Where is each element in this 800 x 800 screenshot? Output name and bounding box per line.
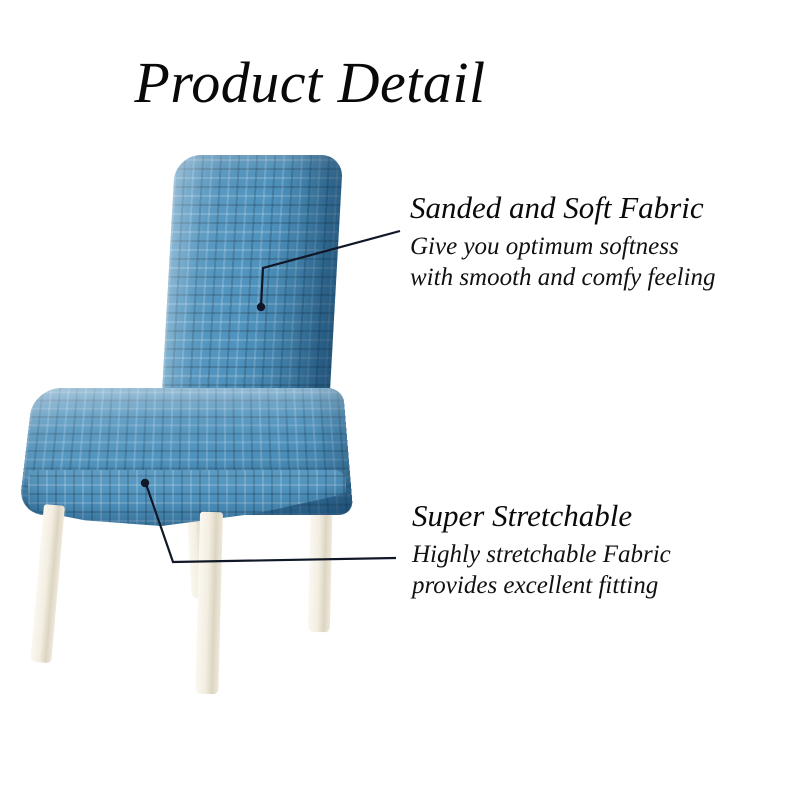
annotation-body-super-stretchable: Highly stretchable Fabric provides excel… xyxy=(412,539,671,601)
product-detail-image: Product Detail Sanded and Soft Fabric xyxy=(0,0,800,800)
annotation-heading-super-stretchable: Super Stretchable xyxy=(412,498,671,534)
annotation-super-stretchable: Super Stretchable Highly stretchable Fab… xyxy=(412,498,671,601)
annotation-heading-sanded-soft-fabric: Sanded and Soft Fabric xyxy=(410,190,716,226)
annotation-body-line: provides excellent fitting xyxy=(412,570,671,601)
chair-leg-front-left xyxy=(30,504,65,663)
annotation-body-sanded-soft-fabric: Give you optimum softness with smooth an… xyxy=(410,231,716,293)
annotation-body-line: Highly stretchable Fabric xyxy=(412,539,671,570)
annotation-body-line: with smooth and comfy feeling xyxy=(410,262,716,293)
chair-backrest-cover xyxy=(161,155,343,413)
annotation-sanded-soft-fabric: Sanded and Soft Fabric Give you optimum … xyxy=(410,190,716,293)
chair-leg-front-center xyxy=(195,512,223,695)
chair-illustration xyxy=(0,0,800,800)
annotation-body-line: Give you optimum softness xyxy=(410,231,716,262)
